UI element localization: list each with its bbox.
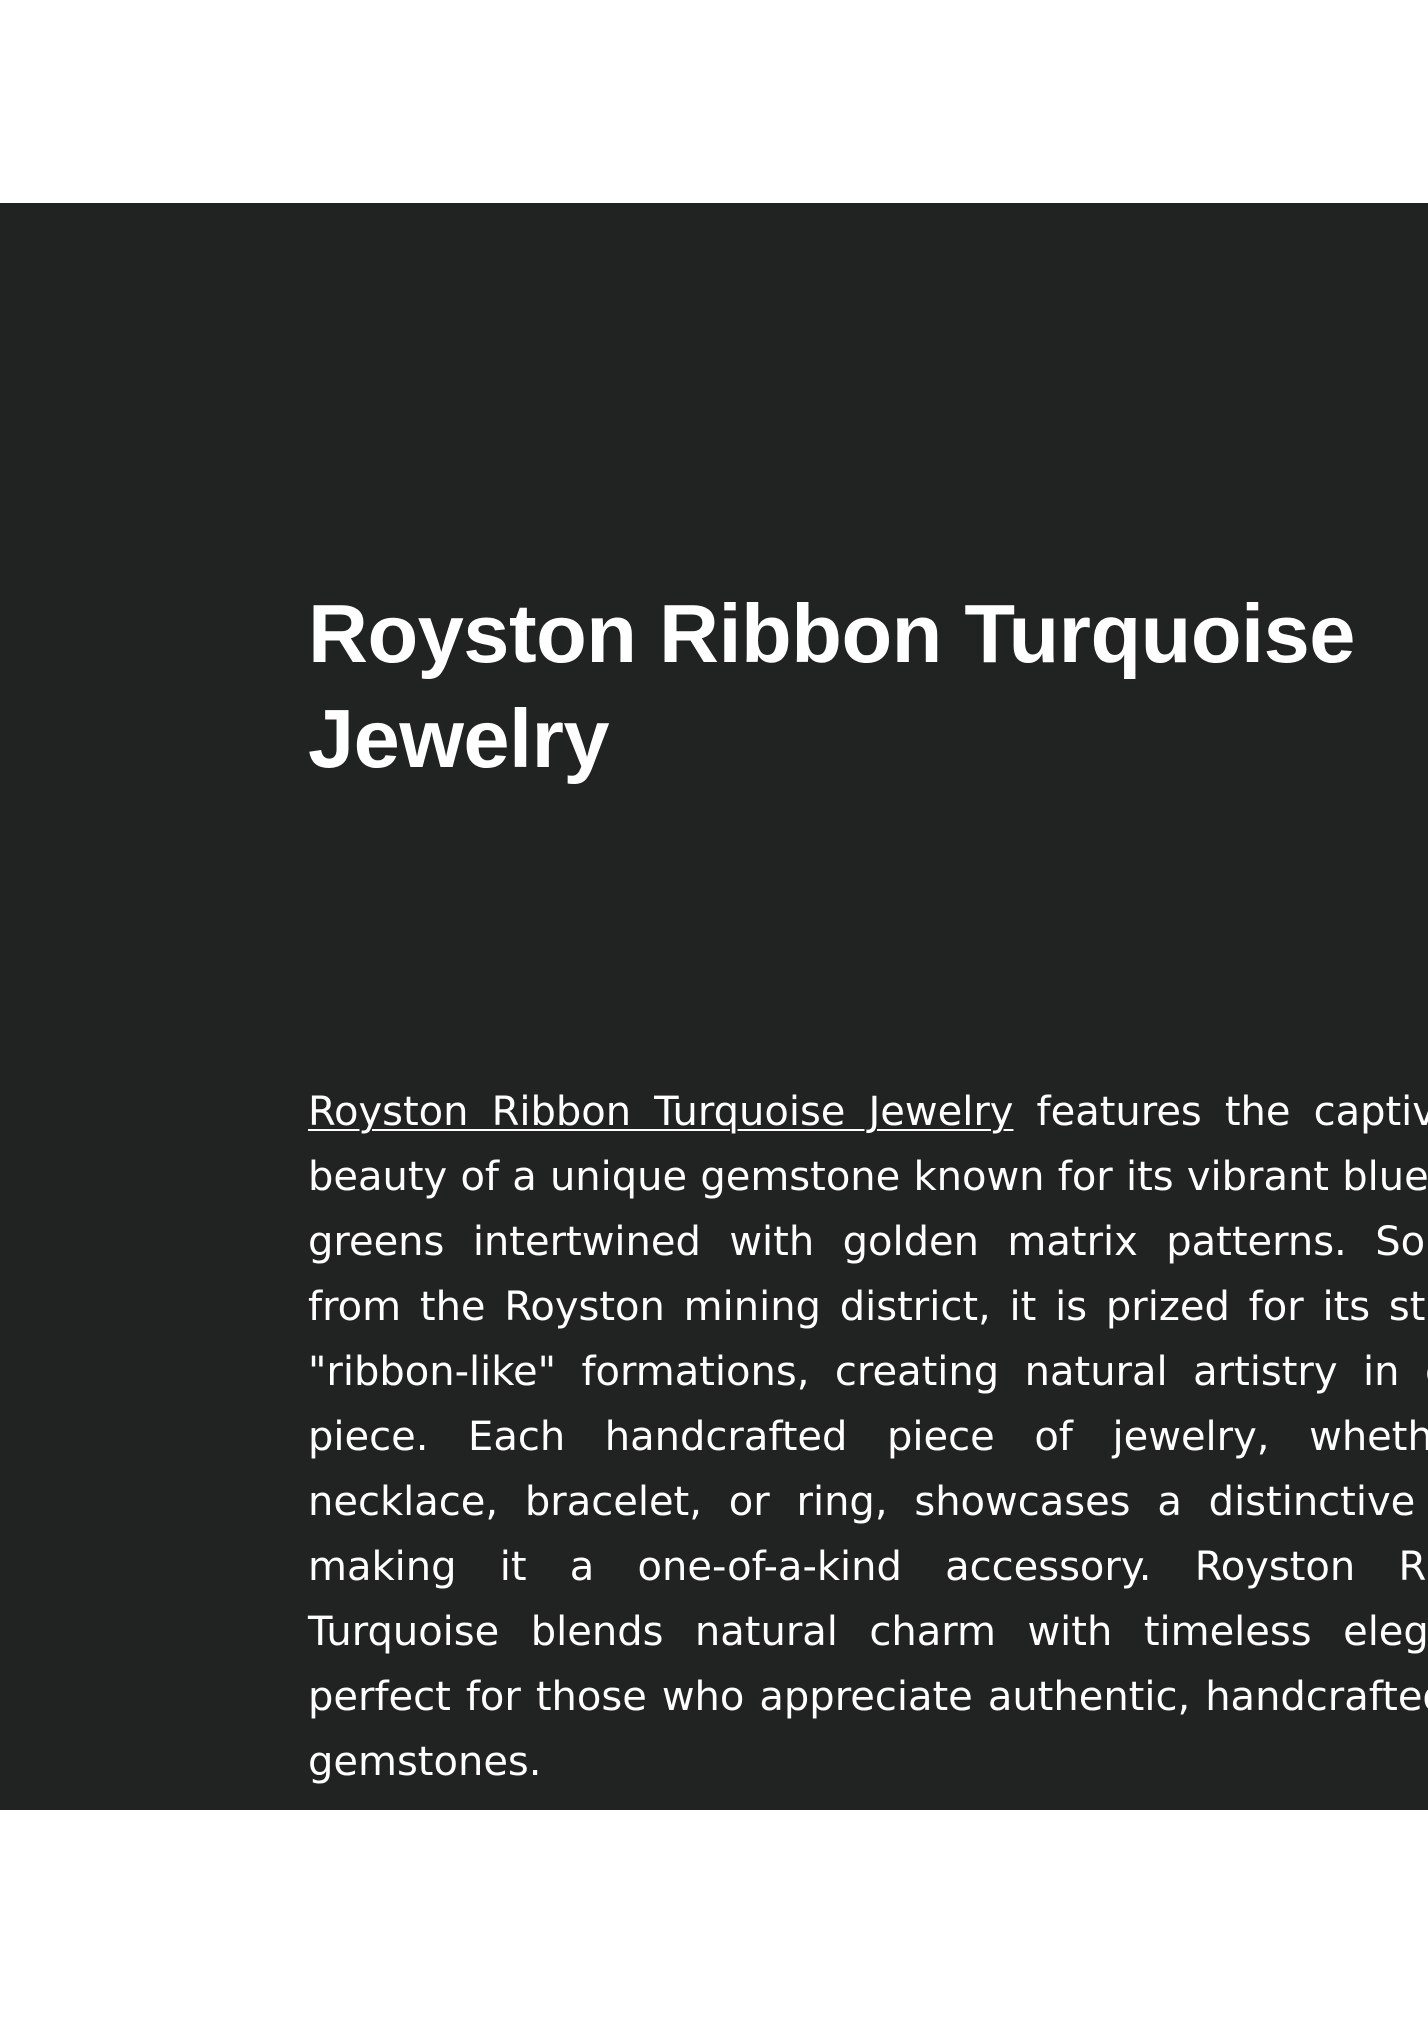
article-panel: Royston Ribbon Turquoise Jewelry Royston… [0, 203, 1428, 1810]
article-content-column: Royston Ribbon Turquoise Jewelry Royston… [308, 203, 1428, 1810]
page-title: Royston Ribbon Turquoise Jewelry [308, 581, 1428, 792]
article-body-paragraph: Royston Ribbon Turquoise Jewelry feature… [308, 1080, 1428, 1795]
royston-ribbon-turquoise-jewelry-link[interactable]: Royston Ribbon Turquoise Jewelry [308, 1089, 1013, 1135]
article-body-text: features the captivating beauty of a uni… [308, 1089, 1428, 1785]
page-root: Royston Ribbon Turquoise Jewelry Royston… [0, 0, 1428, 2018]
